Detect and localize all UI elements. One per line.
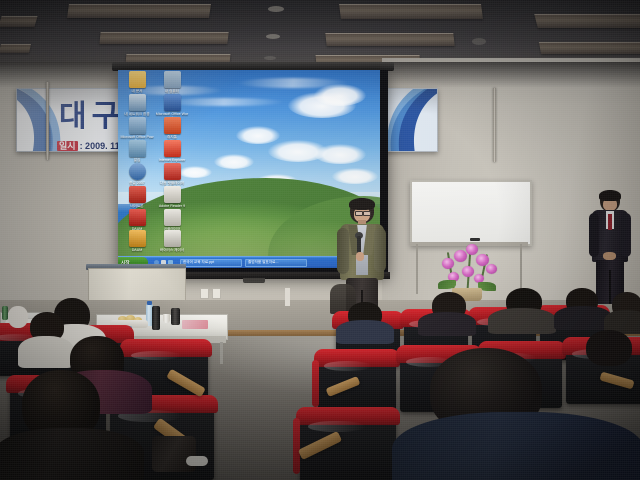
- staff-member: [588, 190, 632, 306]
- desktop-icon-label: 내 문서: [120, 89, 154, 93]
- desktop-icon[interactable]: Internet Explorer: [155, 140, 189, 162]
- word-icon: [164, 94, 181, 111]
- desktop-icon-label: DAUM: [120, 248, 154, 252]
- desktop-icon-label: 한글 2007: [120, 181, 154, 185]
- taskbar-button[interactable]: 한국어 교육 자료.ppt: [180, 259, 242, 267]
- ceiling-light-fixture: [0, 44, 31, 53]
- cloud: [214, 154, 254, 169]
- orchid-bloom: [466, 244, 478, 255]
- folder-icon: [164, 71, 181, 88]
- whiteboard-leg: [520, 244, 522, 292]
- presenter-arm: [337, 228, 349, 274]
- table-leg: [220, 342, 223, 364]
- ceiling-light-fixture: [67, 4, 211, 18]
- seat-highlight: [324, 361, 371, 371]
- ceiling-light-fixture: [339, 4, 483, 19]
- adobe-reader-icon: [129, 209, 146, 226]
- desktop-icon-label: Adobe Reader 9: [155, 204, 189, 208]
- wall-outlet: [212, 288, 221, 299]
- desktop-icon[interactable]: 휴지통: [155, 117, 189, 139]
- audience-shoulders: [18, 336, 74, 368]
- hangul-icon: [164, 163, 181, 180]
- orchid-arrangement: [430, 244, 508, 300]
- beverage-can: [171, 308, 180, 325]
- orchid-bloom: [486, 264, 497, 274]
- alzip-icon: [164, 140, 181, 157]
- floor-stand: [285, 288, 290, 306]
- cloud: [314, 84, 366, 106]
- desktop-icon[interactable]: 한글 2007: [120, 163, 154, 185]
- gom-player-icon: [129, 230, 146, 247]
- bottle-cap: [147, 301, 152, 305]
- seat-side: [293, 418, 300, 474]
- staff-hair: [599, 190, 621, 201]
- cloud: [314, 144, 366, 164]
- network-icon: [129, 117, 146, 134]
- presenter-hair: [349, 198, 375, 210]
- recycle-bin-icon: [129, 140, 146, 157]
- wall-outlet: [200, 288, 209, 299]
- presenter-hand: [356, 252, 364, 261]
- my-computer-icon: [129, 94, 146, 111]
- presenter-arm: [374, 228, 386, 272]
- dark-bottle: [152, 306, 160, 330]
- desktop-icon[interactable]: 내 문서: [120, 71, 154, 93]
- bag: [152, 436, 196, 472]
- glasses-icon: [355, 211, 363, 216]
- staff-arm: [589, 213, 599, 257]
- seat-side: [312, 360, 319, 407]
- ceiling-light-fixture: [539, 42, 640, 54]
- staff-necktie: [608, 214, 612, 230]
- orchid-bloom: [462, 266, 474, 277]
- nateon-icon: [164, 186, 181, 203]
- staff-leg-gap: [609, 270, 611, 304]
- daum-icon: [164, 209, 181, 226]
- desktop-icon[interactable]: 내 컴퓨터: [155, 71, 189, 93]
- whiteboard-marker[interactable]: [470, 238, 480, 241]
- desktop-icon[interactable]: 네이트온: [120, 186, 154, 208]
- staff-hands: [603, 252, 616, 260]
- desktop-icon[interactable]: DAUM: [120, 209, 154, 231]
- ceiling-downlight: [268, 6, 284, 12]
- audience-shoulders: [418, 312, 476, 336]
- photo-scene: 대구대 발표회 대구 발표회 일시: 2009. 11. 20(금 : 대구대학…: [0, 0, 640, 480]
- desktop-icon[interactable]: Adobe Reader 9: [155, 186, 189, 208]
- desktop-icon[interactable]: 알집: [120, 140, 154, 162]
- orchid-bloom: [454, 250, 467, 262]
- napkin: [182, 320, 208, 329]
- whiteboard[interactable]: [410, 180, 532, 246]
- seat-highlight: [308, 421, 366, 433]
- ceiling-light-fixture: [325, 33, 454, 46]
- taskbar-button-label: 한국어 교육 자료.ppt: [183, 260, 214, 265]
- ceiling-speaker: [472, 38, 486, 45]
- powerpoint-icon: [164, 117, 181, 134]
- ceiling-light-fixture: [0, 16, 38, 27]
- audience-head: [8, 306, 28, 328]
- desktop-icon-label: 네이트온: [120, 204, 154, 208]
- banner-hanging-rod: [46, 82, 49, 160]
- desktop-icon[interactable]: 내 네트워크 환경: [120, 94, 154, 116]
- desktop-icon[interactable]: 다음 팟플레이어: [155, 163, 189, 185]
- taskbar-button-label: 졸업작품 발표자료...: [248, 260, 278, 265]
- ceiling-light-fixture: [99, 32, 228, 44]
- ceiling-downlight: [264, 56, 276, 60]
- desktop-icon-label: 바이러스 체이서: [155, 248, 189, 252]
- desktop-icon-label: 다음 팟플레이어: [155, 181, 189, 185]
- audience-shoulders: [336, 320, 394, 344]
- whiteboard-leg: [416, 244, 418, 294]
- audience-shoulders: [0, 428, 144, 480]
- desktop-icon[interactable]: 바이러스 체이서: [155, 230, 189, 252]
- potplayer-icon: [129, 186, 146, 203]
- desktop-icon[interactable]: DAUM: [120, 230, 154, 252]
- ceiling-light-fixture: [534, 14, 640, 28]
- desktop-icon-label: 휴지통: [155, 135, 189, 139]
- cloud: [332, 168, 378, 184]
- desktop-icon-label: Internet Explorer: [155, 158, 189, 162]
- desktop-icon-label: 알집: [120, 158, 154, 162]
- glasses-icon: [363, 211, 371, 216]
- desktop-icon[interactable]: 곰플레이어: [155, 209, 189, 231]
- desktop-icon-label: 내 네트워크 환경: [120, 112, 154, 116]
- projector-screen-weight: [243, 278, 265, 283]
- audience-shoulders: [488, 308, 556, 334]
- orchid-bloom: [442, 258, 454, 269]
- staff-arm: [621, 213, 631, 257]
- paper-cup: [163, 314, 170, 323]
- desktop-icon-label: 내 컴퓨터: [155, 89, 189, 93]
- cloud: [236, 126, 280, 144]
- audience-head: [586, 330, 632, 366]
- taskbar-button[interactable]: 졸업작품 발표자료...: [245, 259, 307, 267]
- shoe: [186, 456, 208, 466]
- virus-chaser-icon: [164, 230, 181, 247]
- internet-explorer-icon: [129, 163, 146, 180]
- my-documents-icon: [129, 71, 146, 88]
- banner-hanging-rod: [493, 88, 496, 162]
- audience-shoulders: [392, 412, 640, 480]
- ceiling-downlight: [266, 34, 280, 39]
